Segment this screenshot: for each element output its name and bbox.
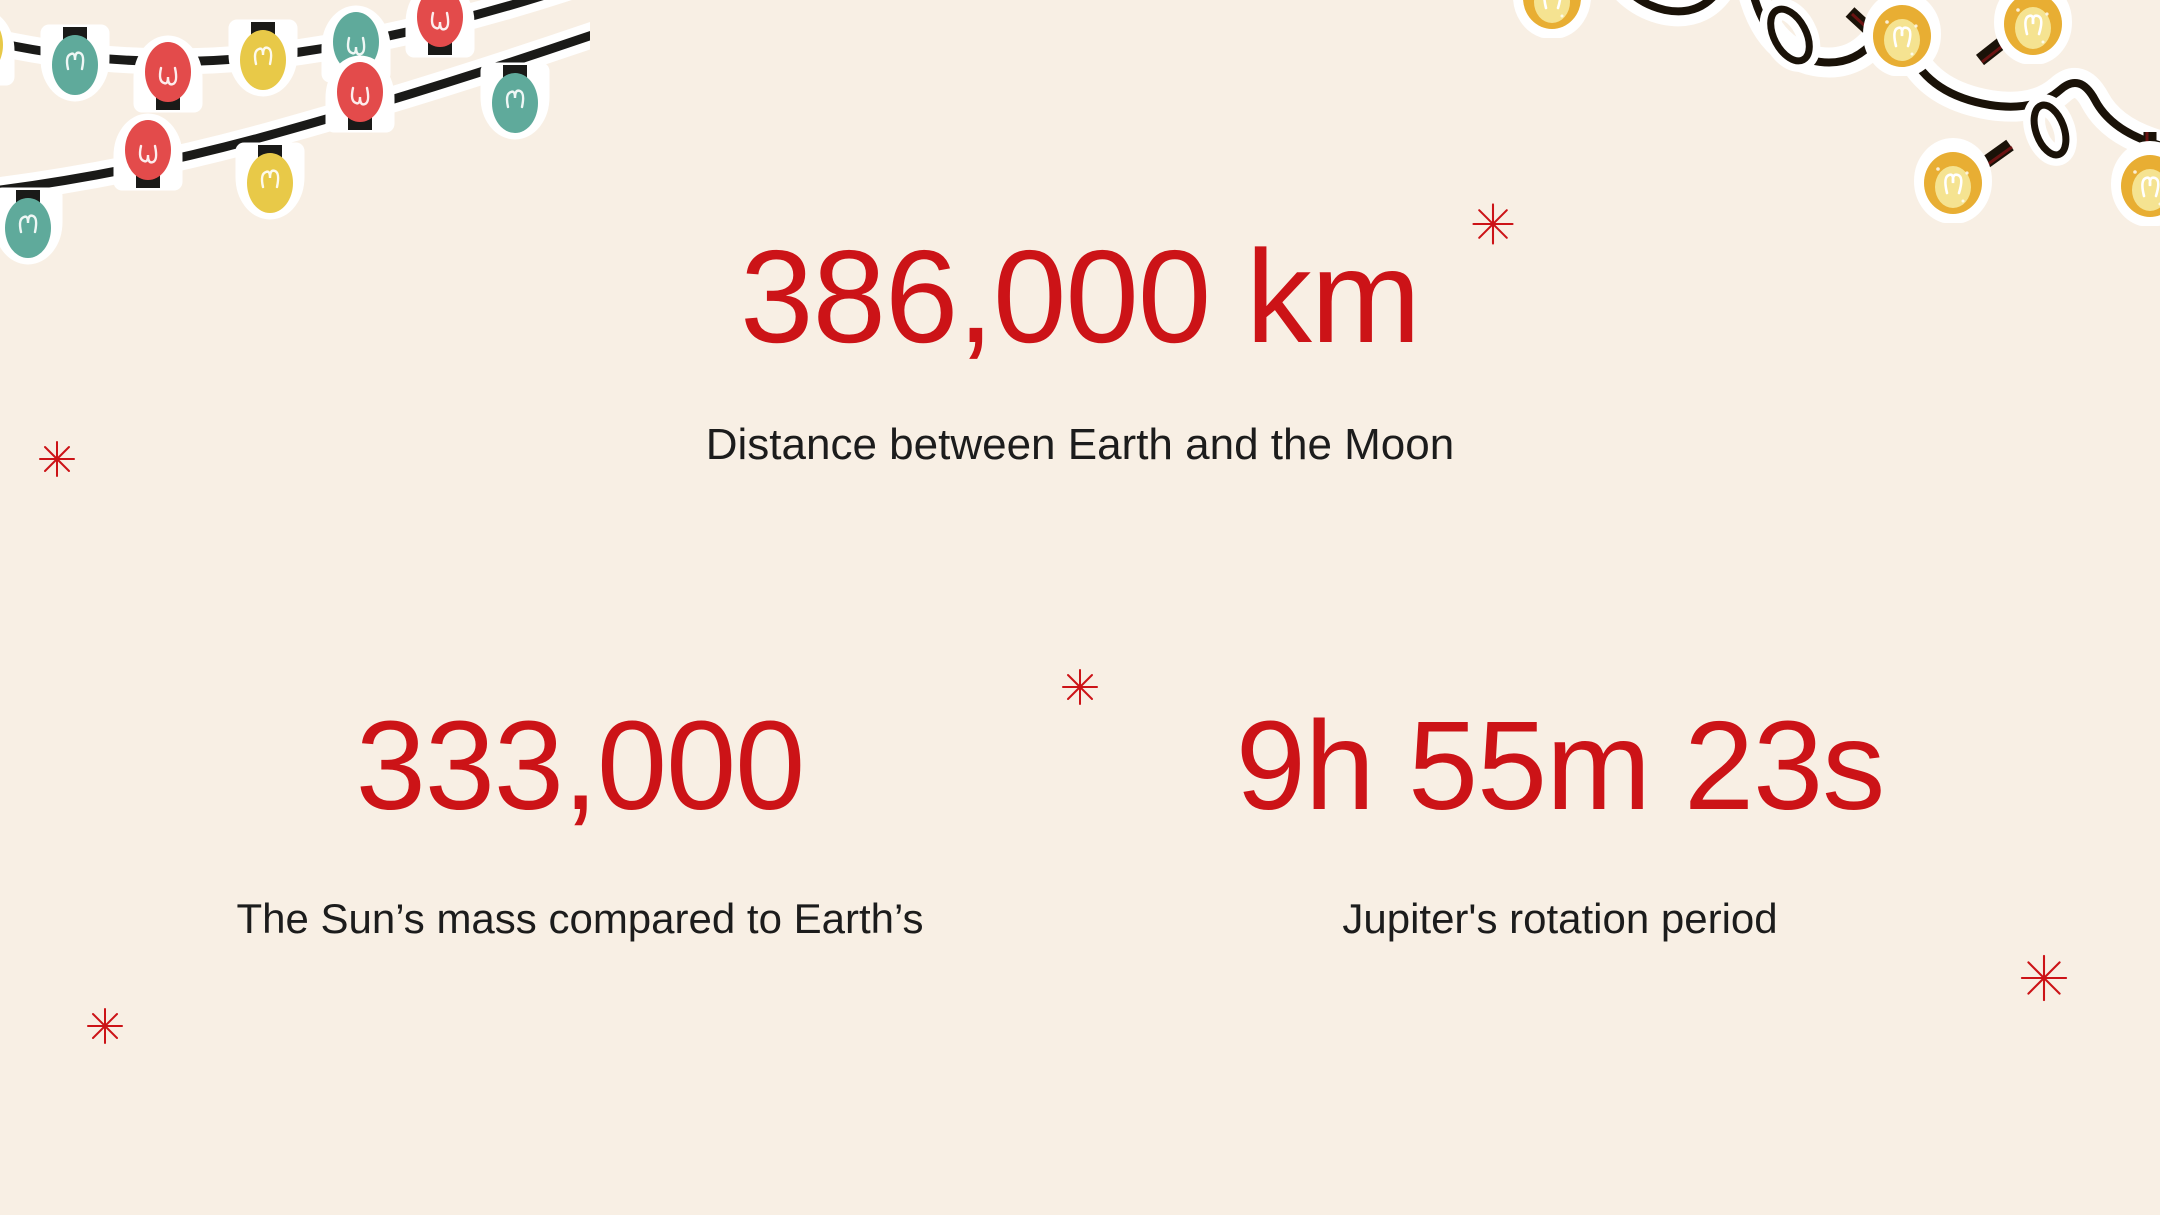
stat-jupiter-rotation: 9h 55m 23s Jupiter's rotation period <box>1090 700 2030 945</box>
stat-value: 9h 55m 23s <box>1090 700 2030 832</box>
stat-distance-earth-moon: 386,000 km Distance between Earth and th… <box>0 228 2160 471</box>
stat-label: Distance between Earth and the Moon <box>0 419 2160 472</box>
content-layer: 386,000 km Distance between Earth and th… <box>0 0 2160 1215</box>
stat-value: 386,000 km <box>0 228 2160 367</box>
slide-canvas: 386,000 km Distance between Earth and th… <box>0 0 2160 1215</box>
stat-sun-mass: 333,000 The Sun’s mass compared to Earth… <box>40 700 1120 945</box>
stat-label: The Sun’s mass compared to Earth’s <box>40 894 1120 944</box>
stat-value: 333,000 <box>40 700 1120 832</box>
stat-label: Jupiter's rotation period <box>1090 894 2030 944</box>
